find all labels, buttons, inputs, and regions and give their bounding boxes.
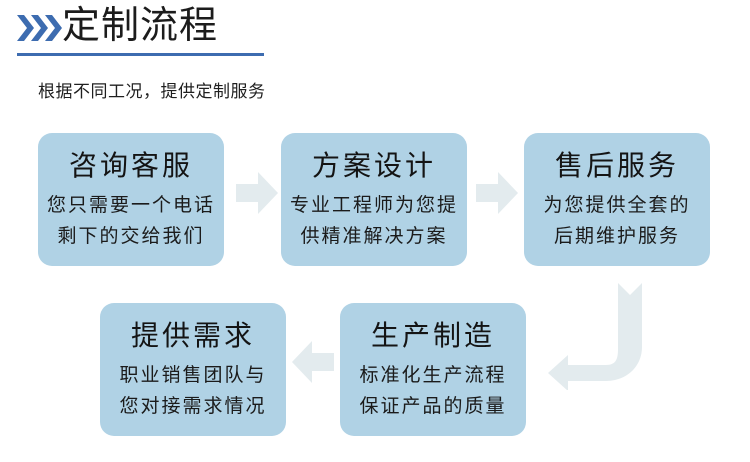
page-header: 定制流程 (0, 0, 750, 62)
flow-step-title: 生产制造 (340, 316, 526, 356)
arrow-curved-down-left-icon (546, 275, 676, 390)
flow-step-description: 您只需要一个电话 剩下的交给我们 (38, 190, 224, 252)
flow-step-card[interactable]: 提供需求 职业销售团队与 您对接需求情况 (100, 303, 286, 436)
arrow-right-icon (474, 168, 520, 218)
flow-step-description-line: 标准化生产流程 (340, 360, 526, 391)
flow-step-description: 为您提供全套的 后期维护服务 (524, 190, 710, 252)
flow-step-description-line: 保证产品的质量 (340, 391, 526, 422)
page-subtitle: 根据不同工况，提供定制服务 (38, 79, 266, 105)
flow-step-description-line: 您对接需求情况 (100, 391, 286, 422)
flow-step-description: 标准化生产流程 保证产品的质量 (340, 360, 526, 422)
flow-step-title: 提供需求 (100, 316, 286, 356)
flow-step-title: 售后服务 (524, 146, 710, 186)
flow-step-card[interactable]: 生产制造 标准化生产流程 保证产品的质量 (340, 303, 526, 436)
arrow-left-icon (290, 337, 336, 387)
flow-step-card[interactable]: 售后服务 为您提供全套的 后期维护服务 (524, 133, 710, 266)
flow-step-card[interactable]: 咨询客服 您只需要一个电话 剩下的交给我们 (38, 133, 224, 266)
flow-step-card[interactable]: 方案设计 专业工程师为您提 供精准解决方案 (281, 133, 467, 266)
flow-step-description-line: 专业工程师为您提 (281, 190, 467, 221)
flow-step-description: 职业销售团队与 您对接需求情况 (100, 360, 286, 422)
arrow-right-icon (234, 168, 280, 218)
flow-step-description-line: 后期维护服务 (524, 221, 710, 252)
flow-step-description-line: 职业销售团队与 (100, 360, 286, 391)
flow-step-description-line: 剩下的交给我们 (38, 221, 224, 252)
page-title: 定制流程 (62, 2, 218, 50)
flow-step-description-line: 您只需要一个电话 (38, 190, 224, 221)
flow-step-title: 方案设计 (281, 146, 467, 186)
double-chevron-right-icon (16, 14, 62, 42)
title-underline-rule (17, 53, 264, 56)
flow-step-title: 咨询客服 (38, 146, 224, 186)
flow-step-description: 专业工程师为您提 供精准解决方案 (281, 190, 467, 252)
flow-step-description-line: 供精准解决方案 (281, 221, 467, 252)
flow-step-description-line: 为您提供全套的 (524, 190, 710, 221)
